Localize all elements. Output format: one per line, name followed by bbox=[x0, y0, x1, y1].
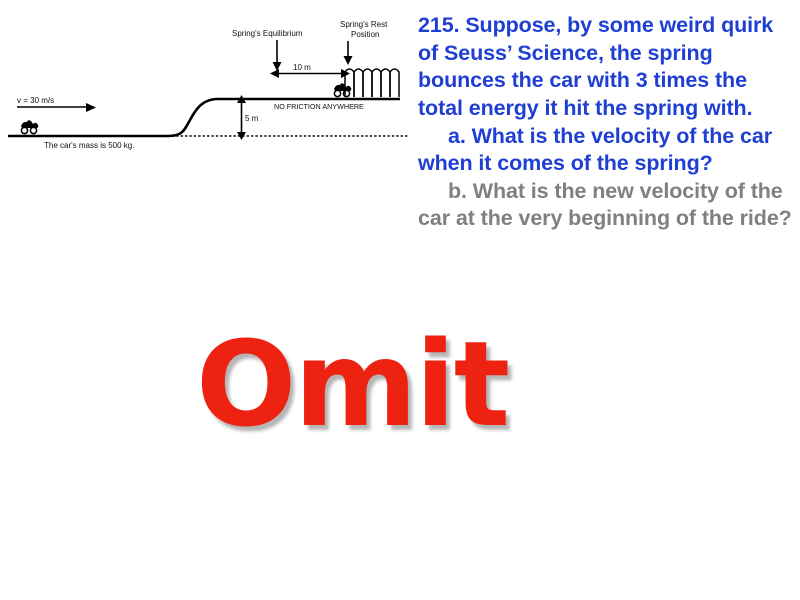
question-part-a: a. What is the velocity of the car when … bbox=[418, 123, 794, 178]
car-wheel-front-icon bbox=[30, 127, 36, 133]
ramp-curve bbox=[168, 99, 216, 136]
spring-icon bbox=[345, 69, 399, 97]
car-top-wheel-rear-icon bbox=[334, 90, 340, 96]
car-top bbox=[334, 83, 351, 96]
car-bottom bbox=[21, 120, 38, 133]
omit-stamp: Omit bbox=[196, 325, 508, 443]
velocity-label: v = 30 m/s bbox=[17, 96, 54, 105]
height-5m-label: 5 m bbox=[245, 114, 259, 123]
no-friction-label: NO FRICTION ANYWHERE bbox=[274, 102, 364, 111]
distance-10m-label: 10 m bbox=[293, 63, 311, 72]
question-panel: 215. Suppose, by some weird quirk of Seu… bbox=[418, 12, 794, 233]
mass-note-label: The car's mass is 500 kg. bbox=[44, 141, 134, 150]
question-stem: 215. Suppose, by some weird quirk of Seu… bbox=[418, 12, 794, 123]
spring-rest-label-line1: Spring's Rest bbox=[340, 20, 388, 29]
spring-equilibrium-label: Spring's Equilibrium bbox=[232, 29, 303, 38]
question-part-b: b. What is the new velocity of the car a… bbox=[418, 178, 794, 233]
car-wheel-rear-icon bbox=[21, 127, 27, 133]
diagram-canvas: v = 30 m/s The car's mass is 500 kg. Spr… bbox=[0, 0, 415, 170]
spring-rest-arrow bbox=[344, 41, 353, 65]
spring-equilibrium-arrow bbox=[273, 40, 282, 71]
physics-diagram: v = 30 m/s The car's mass is 500 kg. Spr… bbox=[0, 0, 415, 170]
spring-rest-label-line2: Position bbox=[351, 30, 379, 39]
